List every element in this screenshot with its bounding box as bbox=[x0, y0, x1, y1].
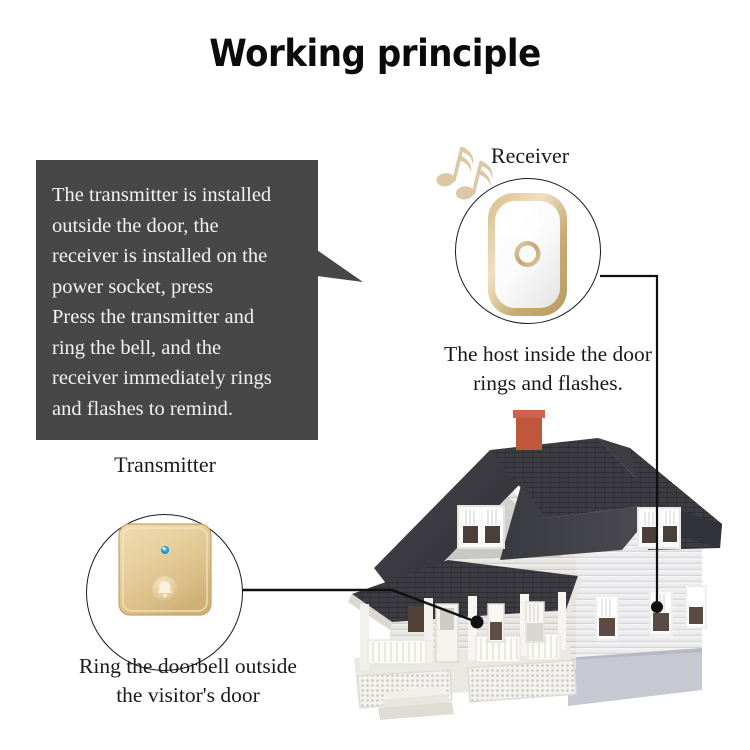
page-title: Working principle bbox=[30, 32, 720, 75]
wall-switch-doorbell-button-icon[interactable] bbox=[117, 522, 213, 617]
callout-tail-pointer bbox=[317, 246, 363, 286]
explanation-callout-box: The transmitter is installed outside the… bbox=[36, 160, 318, 440]
working-principle-infographic: Working principle bbox=[0, 0, 750, 750]
transmitter-caption: Ring the doorbell outside the visitor's … bbox=[38, 652, 338, 710]
house-model-photo bbox=[330, 408, 750, 728]
receiver-plug-in-chime-icon[interactable] bbox=[487, 192, 568, 317]
receiver-caption: The host inside the door rings and flash… bbox=[408, 340, 688, 398]
transmitter-label: Transmitter bbox=[75, 452, 255, 478]
explanation-text: The transmitter is installed outside the… bbox=[52, 180, 310, 424]
